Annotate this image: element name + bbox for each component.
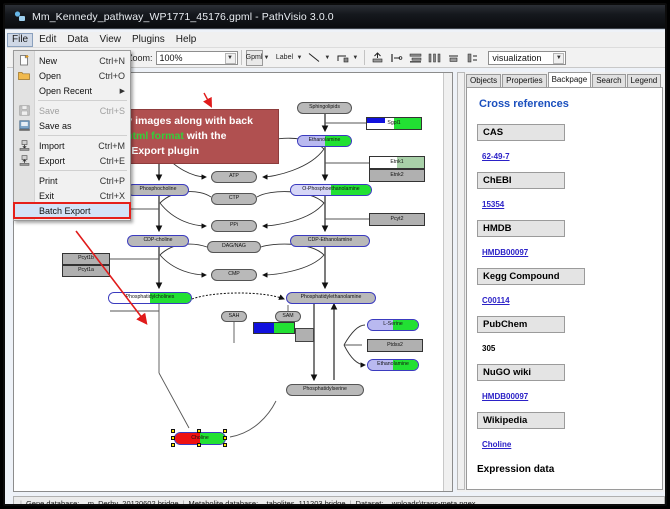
- status-metabolite-database-value: ...tabolites_111203.bridge: [260, 499, 345, 507]
- window-titlebar: Mm_Kennedy_pathway_WP1771_45176.gpml - P…: [5, 5, 665, 29]
- file-menu-item-exit[interactable]: Exit Ctrl+X: [14, 188, 130, 203]
- cdp-choline-node-label: CDP-choline: [143, 238, 172, 243]
- status-bar: | Gene database: ...m_Derby_20120602.bri…: [13, 496, 665, 506]
- pcyt1a-gene-label: Pcyt1a: [78, 268, 94, 273]
- pcyt1a-gene[interactable]: Pcyt1a: [62, 265, 110, 277]
- align-top-button[interactable]: [369, 50, 386, 66]
- pemt-gene-label: [254, 323, 294, 333]
- sphingolipids-node[interactable]: Sphingolipids: [297, 102, 352, 114]
- group-icon: [447, 52, 460, 64]
- selection-handle[interactable]: [171, 429, 175, 433]
- ctp-node[interactable]: CTP: [211, 193, 257, 205]
- ethanolamine-node-2-label: Ethanolamine: [368, 360, 418, 370]
- file-menu-label-open: Open: [39, 71, 99, 81]
- pcyt2-gene-label: Pcyt2: [391, 217, 404, 222]
- align-left-button[interactable]: [388, 50, 405, 66]
- selection-handle[interactable]: [223, 443, 227, 447]
- visualization-combobox[interactable]: visualization ▼: [488, 51, 566, 65]
- status-dataset-label: Dataset:: [355, 499, 383, 507]
- etnk1-gene-label: Etnk1: [370, 157, 424, 168]
- menu-item-help[interactable]: Help: [171, 33, 202, 47]
- menu-item-view[interactable]: View: [94, 33, 126, 47]
- save-as-icon: [18, 120, 30, 131]
- file-menu-item-import[interactable]: Import Ctrl+M: [14, 138, 130, 153]
- selection-handle[interactable]: [223, 429, 227, 433]
- canvas-vertical-scrollbar[interactable]: [443, 73, 452, 491]
- menu-item-edit[interactable]: Edit: [34, 33, 61, 47]
- phosphatidylserine-node[interactable]: Phosphatidylserine: [286, 384, 364, 396]
- backpage-title: Cross references: [479, 98, 652, 110]
- menu-bar: File Edit Data View Plugins Help: [7, 32, 667, 48]
- import-icon: [18, 140, 30, 151]
- selection-handle[interactable]: [197, 429, 201, 433]
- selection-handle[interactable]: [197, 443, 201, 447]
- menu-item-file[interactable]: File: [7, 33, 33, 47]
- dag-nag-node[interactable]: DAG/NAG: [207, 241, 261, 253]
- file-menu-item-save-as[interactable]: Save as: [14, 118, 130, 133]
- pcyt1b-gene[interactable]: Pcyt1b: [62, 253, 110, 265]
- tab-properties[interactable]: Properties: [502, 74, 546, 87]
- line-icon: [308, 52, 321, 63]
- file-menu-separator: [38, 100, 127, 101]
- datanode-tool-button[interactable]: Gpml: [246, 50, 263, 66]
- order-button[interactable]: [464, 50, 481, 66]
- menu-item-plugins[interactable]: Plugins: [127, 33, 170, 47]
- cdp-ethanolamine-node[interactable]: CDP-Ethanolamine: [290, 235, 370, 247]
- pcyt2-gene[interactable]: Pcyt2: [369, 213, 425, 226]
- pathvisio-app-icon: [13, 10, 26, 23]
- file-menu-accel-import: Ctrl+M: [98, 141, 130, 151]
- line-tool-button[interactable]: [306, 50, 323, 66]
- file-menu-item-open[interactable]: Open Ctrl+O: [14, 68, 130, 83]
- file-menu-label-save: Save: [39, 106, 100, 116]
- file-menu-separator: [38, 135, 127, 136]
- side-panel-tabstrip: Objects Properties Backpage Search Legen…: [466, 72, 665, 87]
- xref-value-pubchem: 305: [482, 344, 495, 353]
- xref-source-kegg: Kegg Compound: [477, 268, 585, 285]
- selection-handle[interactable]: [171, 443, 175, 447]
- file-dropdown-menu[interactable]: New Ctrl+N Open Ctrl+O Open Recent ▶: [13, 50, 131, 221]
- sphingolipids-node-label: Sphingolipids: [309, 105, 340, 110]
- file-menu-item-export[interactable]: Export Ctrl+E: [14, 153, 130, 168]
- dag-nag-node-label: DAG/NAG: [222, 244, 246, 249]
- sah-node-left[interactable]: SAH: [221, 311, 247, 322]
- xref-source-hmdb: HMDB: [477, 220, 565, 237]
- chevron-right-icon: ▶: [120, 87, 130, 95]
- status-gene-database-label: Gene database:: [26, 499, 79, 507]
- xref-source-cas: CAS: [477, 124, 565, 141]
- file-menu-accel-exit: Ctrl+X: [100, 191, 130, 201]
- tab-search[interactable]: Search: [592, 74, 625, 87]
- xref-value-nugo[interactable]: HMDB00097: [482, 392, 528, 401]
- pemt-anchor-box[interactable]: [295, 328, 314, 342]
- window-title: Mm_Kennedy_pathway_WP1771_45176.gpml - P…: [32, 11, 334, 23]
- application-window: Mm_Kennedy_pathway_WP1771_45176.gpml - P…: [3, 3, 667, 506]
- phosphatidylethanolamine-node[interactable]: Phosphatidylethanolamine: [286, 292, 376, 304]
- file-menu-label-save-as: Save as: [39, 121, 125, 131]
- tab-legend[interactable]: Legend: [627, 74, 662, 87]
- l-serine-node-label: L-Serine: [368, 320, 418, 330]
- phosphocholine-node-label: Phosphocholine: [140, 187, 177, 192]
- phosphatidylethanolamine-node-label: Phosphatidylethanolamine: [301, 295, 362, 300]
- etnk1-gene[interactable]: Etnk1: [369, 156, 425, 169]
- xref-value-wikipedia[interactable]: Choline: [482, 440, 511, 449]
- expression-data-title: Expression data: [477, 464, 652, 475]
- application-body: File Edit Data View Plugins Help Zoom: 1…: [5, 29, 665, 506]
- chevron-down-icon[interactable]: ▼: [225, 53, 236, 64]
- interaction-tool-button[interactable]: [334, 50, 351, 66]
- xref-value-kegg[interactable]: C00114: [482, 296, 510, 305]
- phosphatidylcholines-node-label: Phosphatidylcholines: [109, 293, 191, 303]
- sam-node-right[interactable]: SAM: [275, 311, 301, 322]
- align-top-icon: [371, 52, 384, 64]
- order-icon: [466, 52, 479, 64]
- file-menu-item-save: Save Ctrl+S: [14, 103, 130, 118]
- chevron-down-icon[interactable]: ▼: [264, 55, 270, 61]
- tab-objects[interactable]: Objects: [466, 74, 501, 87]
- chevron-down-icon[interactable]: ▼: [553, 53, 564, 64]
- file-menu-label-new: New: [39, 56, 99, 66]
- ethanolamine-node-label: Ethanolamine: [298, 136, 351, 146]
- open-folder-icon: [18, 70, 30, 81]
- align-left-icon: [390, 52, 403, 64]
- cmp-node-label: CMP: [228, 272, 240, 277]
- file-menu-label-exit: Exit: [39, 191, 100, 201]
- menu-item-data[interactable]: Data: [62, 33, 93, 47]
- pemt-gene[interactable]: [253, 322, 295, 334]
- stack-vertical-icon: [409, 52, 422, 64]
- toolbar-separator: [241, 50, 242, 65]
- phosphocholine-node[interactable]: Phosphocholine: [127, 184, 189, 196]
- ctp-node-label: CTP: [229, 196, 239, 201]
- status-gene-database-value: ...m_Derby_20120602.bridge: [81, 499, 178, 507]
- file-menu-label-print: Print: [39, 176, 100, 186]
- file-menu-separator: [38, 170, 127, 171]
- label-tool-button[interactable]: Label: [273, 50, 295, 66]
- chevron-down-icon[interactable]: ▼: [324, 55, 330, 61]
- sgpl1-gene[interactable]: Sgpl1: [366, 117, 422, 130]
- sah-node-label: SAH: [229, 314, 240, 319]
- stack-vertical-button[interactable]: [407, 50, 424, 66]
- distribute-button[interactable]: [426, 50, 443, 66]
- cdp-ethanolamine-node-label: CDP-Ethanolamine: [308, 238, 352, 243]
- toolbar-separator: [364, 50, 365, 65]
- xref-source-chebi: ChEBI: [477, 172, 565, 189]
- annotation-line-2-b: with the: [184, 130, 227, 142]
- xref-value-chebi[interactable]: 15354: [482, 200, 504, 209]
- file-menu-item-batch-export[interactable]: Batch Export: [14, 203, 130, 218]
- group-button[interactable]: [445, 50, 462, 66]
- xref-value-hmdb[interactable]: HMDB00097: [482, 248, 528, 257]
- file-menu-label-batch-export: Batch Export: [39, 206, 130, 216]
- file-menu-label-open-recent: Open Recent: [39, 86, 120, 96]
- file-menu-accel-print: Ctrl+P: [100, 176, 130, 186]
- new-file-icon: [18, 55, 30, 66]
- file-menu-accel-export: Ctrl+E: [100, 156, 130, 166]
- file-menu-accel-open: Ctrl+O: [99, 71, 130, 81]
- pcyt1b-gene-label: Pcyt1b: [78, 256, 94, 261]
- atp-node[interactable]: ATP: [211, 171, 257, 183]
- annotation-highlight: html format: [126, 130, 184, 142]
- xref-source-nugo: NuGO wiki: [477, 364, 565, 381]
- chevron-down-icon[interactable]: ▼: [296, 55, 302, 61]
- sam-node-label: SAM: [282, 314, 293, 319]
- phosphatidylcholines-node[interactable]: Phosphatidylcholines: [108, 292, 192, 304]
- side-panel-scrollbar[interactable]: [457, 72, 465, 490]
- zoom-combobox[interactable]: 100% ▼: [156, 51, 238, 65]
- xref-value-cas[interactable]: 62-49-7: [482, 152, 510, 161]
- phosphatidylserine-node-label: Phosphatidylserine: [303, 387, 347, 392]
- file-menu-item-new[interactable]: New Ctrl+N: [14, 53, 130, 68]
- visualization-value: visualization: [492, 53, 541, 63]
- backpage-content: Cross references CAS 62-49-7 ChEBI 15354…: [466, 87, 663, 490]
- status-dataset-value: ...wnloads\trans-meta.pgex: [385, 499, 475, 507]
- file-menu-item-print[interactable]: Print Ctrl+P: [14, 173, 130, 188]
- cdp-choline-node[interactable]: CDP-choline: [127, 235, 189, 247]
- selection-handle[interactable]: [171, 436, 175, 440]
- zoom-value: 100%: [160, 53, 183, 63]
- save-disk-icon: [18, 105, 30, 116]
- status-metabolite-database-label: Metabolite database:: [189, 499, 259, 507]
- etnk2-gene[interactable]: Etnk2: [369, 169, 425, 182]
- side-panel: Objects Properties Backpage Search Legen…: [457, 72, 665, 492]
- file-menu-item-open-recent[interactable]: Open Recent ▶: [14, 83, 130, 98]
- file-menu-label-export: Export: [39, 156, 100, 166]
- interaction-icon: [336, 52, 349, 63]
- selection-handle[interactable]: [223, 436, 227, 440]
- tab-backpage[interactable]: Backpage: [548, 72, 592, 87]
- screenshot-root: Mm_Kennedy_pathway_WP1771_45176.gpml - P…: [0, 0, 670, 509]
- atp-node-label: ATP: [229, 174, 239, 179]
- l-serine-node[interactable]: L-Serine: [367, 319, 419, 331]
- etnk2-gene-label: Etnk2: [390, 173, 403, 178]
- xref-source-pubchem: PubChem: [477, 316, 565, 333]
- cmp-node[interactable]: CMP: [211, 269, 257, 281]
- export-icon: [18, 155, 30, 166]
- file-menu-label-import: Import: [39, 141, 98, 151]
- chevron-down-icon[interactable]: ▼: [352, 55, 358, 61]
- ppi-node[interactable]: PPi: [211, 220, 257, 232]
- ptdss2-gene[interactable]: Ptdss2: [367, 339, 423, 352]
- xref-source-wikipedia: Wikipedia: [477, 412, 565, 429]
- file-menu-accel-new: Ctrl+N: [99, 56, 130, 66]
- ppi-node-label: PPi: [230, 223, 238, 228]
- ethanolamine-node-2[interactable]: Ethanolamine: [367, 359, 419, 371]
- ethanolamine-node[interactable]: Ethanolamine: [297, 135, 352, 147]
- distribute-icon: [428, 52, 441, 64]
- file-menu-accel-save: Ctrl+S: [100, 106, 130, 116]
- sgpl1-gene-label: Sgpl1: [367, 118, 421, 129]
- o-phosphoethanolamine-node-label: O-Phosphoethanolamine: [291, 185, 371, 195]
- ptdss2-gene-label: Ptdss2: [387, 343, 403, 348]
- o-phosphoethanolamine-node[interactable]: O-Phosphoethanolamine: [290, 184, 372, 196]
